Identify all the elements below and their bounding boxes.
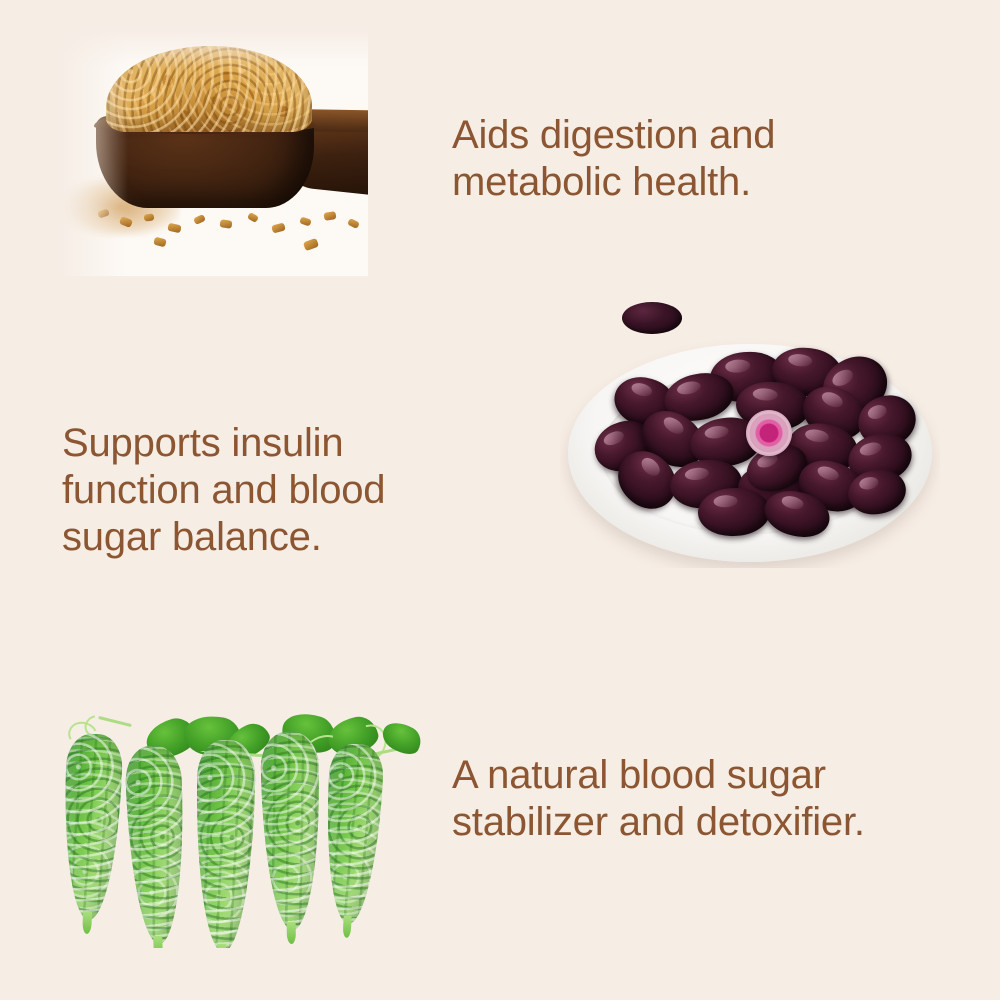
loose-seed: [299, 216, 312, 226]
infographic-canvas: Aids digestion and metabolic health. Sup…: [0, 0, 1000, 1000]
loose-seed: [144, 213, 155, 221]
loose-seed: [193, 214, 206, 225]
loose-seed: [153, 237, 167, 248]
bitter-gourd-fruit: [321, 743, 384, 926]
benefit-text-bitter-gourd: A natural blood sugar stabilizer and det…: [452, 752, 962, 846]
sliced-jamun-fruit: [746, 410, 792, 456]
bitter-gourd-fruit: [194, 740, 256, 948]
bitter-gourd-fruit: [125, 745, 188, 945]
bitter-gourd-fruit: [260, 732, 321, 931]
loose-seed: [323, 211, 336, 221]
loose-seed: [271, 223, 286, 234]
bitter-gourd-image: [50, 708, 440, 948]
loose-seed: [220, 219, 233, 229]
jamun-plate-image: [560, 296, 940, 568]
fenugreek-seeds-image: [58, 28, 368, 276]
benefit-text-jamun: Supports insulin function and blood suga…: [62, 420, 482, 561]
bitter-gourd-fruit: [61, 733, 123, 921]
gourd-leaf: [378, 716, 427, 760]
loose-seed: [303, 238, 319, 251]
benefit-text-fenugreek: Aids digestion and metabolic health.: [452, 112, 882, 206]
loose-seed: [347, 218, 360, 229]
single-jamun-fruit: [622, 302, 682, 334]
image-top-fade: [58, 28, 368, 68]
loose-seed: [247, 212, 259, 223]
